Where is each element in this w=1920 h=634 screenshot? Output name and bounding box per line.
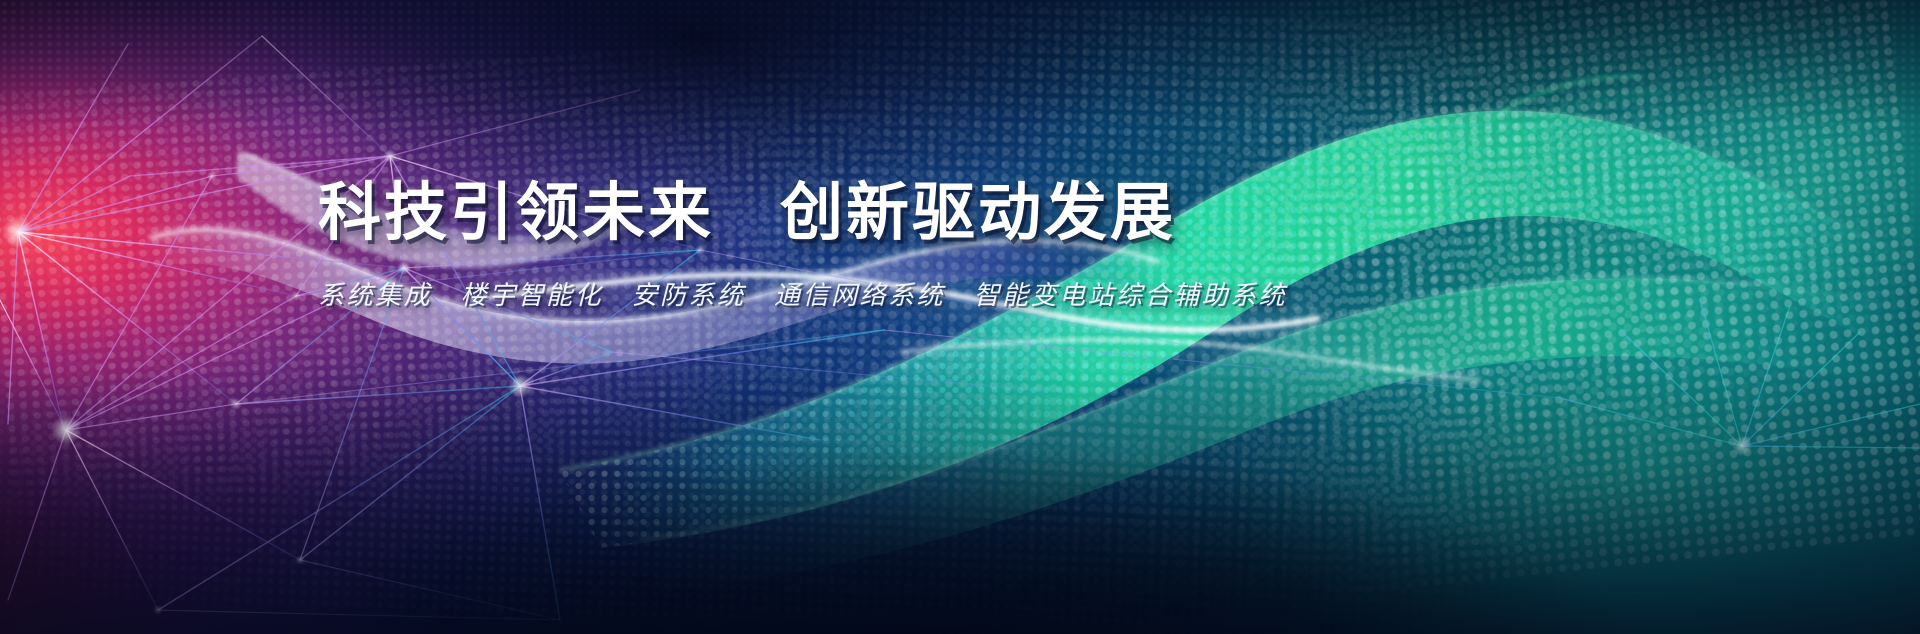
magenta-glow (0, 0, 1920, 634)
green-glow-bottom-right (0, 0, 1920, 634)
vignette-overlay (0, 0, 1920, 634)
network-edges (0, 36, 1920, 620)
violet-glow (0, 0, 1920, 634)
red-glow (0, 0, 1920, 634)
tech-banner: 科技引领未来 创新驱动发展 系统集成 楼宇智能化 安防系统 通信网络系统 智能变… (0, 0, 1920, 634)
teal-glow (0, 0, 1920, 634)
background-tint-gradient (0, 0, 1920, 634)
halftone-mesh-right (0, 0, 1920, 634)
halftone-mesh-center (0, 0, 1920, 634)
green-glow-top-right (0, 0, 1920, 634)
network-lines-group (0, 0, 1920, 634)
halftone-mesh-left (0, 0, 1920, 634)
banner-copy: 科技引领未来 创新驱动发展 系统集成 楼宇智能化 安防系统 通信网络系统 智能变… (318, 176, 1618, 314)
wave-ribbon-group (0, 0, 1920, 634)
banner-subtitle: 系统集成 楼宇智能化 安防系统 通信网络系统 智能变电站综合辅助系统 (318, 280, 1618, 314)
background-base-gradient (0, 0, 1920, 634)
halftone-mesh-top (0, 0, 1920, 634)
halftone-mesh-bottom (0, 0, 1920, 634)
banner-headline: 科技引领未来 创新驱动发展 (318, 176, 1618, 250)
blue-glow (0, 0, 1920, 634)
teal-wave-ribbon-secondary (640, 278, 1920, 590)
green-accent-streak (1490, 76, 1664, 150)
